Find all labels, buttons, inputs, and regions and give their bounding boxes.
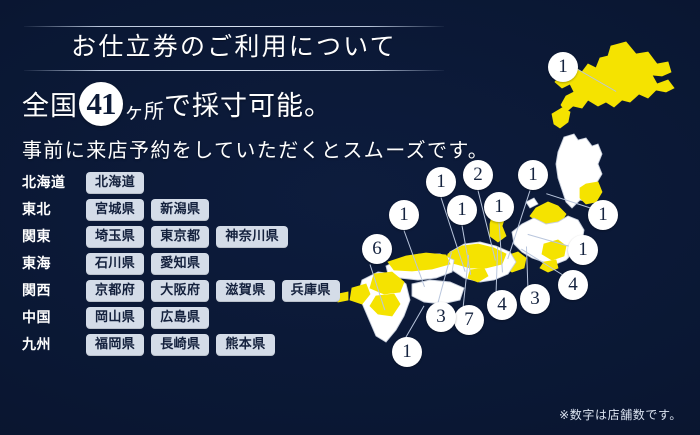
japan-map xyxy=(330,12,700,422)
region-name: 東北 xyxy=(22,199,86,221)
region-row: 北海道北海道 xyxy=(22,172,342,194)
prefecture-tag-group: 石川県愛知県 xyxy=(86,253,342,275)
prefecture-tag-group: 宮城県新潟県 xyxy=(86,199,342,221)
prefecture-tag[interactable]: 熊本県 xyxy=(216,334,274,356)
region-row: 中国岡山県広島県 xyxy=(22,307,342,329)
headline-suffix: で採寸可能。 xyxy=(164,93,332,120)
region-name: 関西 xyxy=(22,280,86,302)
map-marker-tokai-3[interactable]: 3 xyxy=(520,284,550,314)
prefecture-tag-group: 福岡県長崎県熊本県 xyxy=(86,334,342,356)
map-marker-shikoku-7[interactable]: 7 xyxy=(454,305,484,335)
prefecture-tag[interactable]: 岡山県 xyxy=(86,307,144,329)
headline-unit: ヶ所 xyxy=(124,95,164,124)
region-row: 関東埼玉県東京都神奈川県 xyxy=(22,226,342,248)
region-name: 東海 xyxy=(22,253,86,275)
prefecture-tag[interactable]: 滋賀県 xyxy=(216,280,274,302)
prefecture-tag-group: 京都府大阪府滋賀県兵庫県 xyxy=(86,280,342,302)
prefecture-tag[interactable]: 大阪府 xyxy=(151,280,209,302)
region-row: 東海石川県愛知県 xyxy=(22,253,342,275)
map-marker-kyushu-1[interactable]: 1 xyxy=(392,337,422,367)
map-marker-kanto-1[interactable]: 1 xyxy=(568,235,598,265)
prefecture-tag[interactable]: 東京都 xyxy=(151,226,209,248)
store-count-badge: 41 xyxy=(79,82,123,126)
map-marker-kyushu-6[interactable]: 6 xyxy=(362,234,392,264)
map-marker-kansai-b[interactable]: 1 xyxy=(447,195,477,225)
page-title: お仕立券のご利用について xyxy=(24,27,444,70)
prefecture-tag[interactable]: 愛知県 xyxy=(151,253,209,275)
title-rule-bottom xyxy=(24,70,444,71)
headline: 全国 41 ヶ所 で採寸可能。 xyxy=(22,84,332,128)
map-marker-chugoku-a[interactable]: 1 xyxy=(389,200,419,230)
prefecture-hokkaido-tip xyxy=(552,108,570,128)
prefecture-tag[interactable]: 神奈川県 xyxy=(216,226,288,248)
region-name: 九州 xyxy=(22,334,86,356)
prefecture-tag[interactable]: 石川県 xyxy=(86,253,144,275)
region-name: 中国 xyxy=(22,307,86,329)
region-name: 北海道 xyxy=(22,172,86,194)
map-marker-kansai-4[interactable]: 4 xyxy=(487,290,517,320)
region-row: 東北宮城県新潟県 xyxy=(22,199,342,221)
region-list: 北海道北海道東北宮城県新潟県関東埼玉県東京都神奈川県東海石川県愛知県関西京都府大… xyxy=(22,172,342,361)
prefecture-tag-group: 北海道 xyxy=(86,172,342,194)
island-sado xyxy=(526,198,538,208)
prefecture-tag[interactable]: 北海道 xyxy=(86,172,144,194)
promo-panel: 1112116111434731 お仕立券のご利用について 全国 41 ヶ所 で… xyxy=(0,0,700,435)
region-name: 関東 xyxy=(22,226,86,248)
prefecture-tag[interactable]: 新潟県 xyxy=(151,199,209,221)
map-marker-kanto-4[interactable]: 4 xyxy=(558,270,588,300)
map-marker-chugoku-3[interactable]: 3 xyxy=(426,302,456,332)
prefecture-tag[interactable]: 兵庫県 xyxy=(282,280,340,302)
map-marker-kansai-a[interactable]: 2 xyxy=(463,160,493,190)
headline-subline: 事前に来店予約をしていただくとスムーズです。 xyxy=(22,134,489,163)
map-marker-hokkaido[interactable]: 1 xyxy=(548,52,578,82)
header: お仕立券のご利用について xyxy=(24,26,444,71)
headline-prefix: 全国 xyxy=(22,93,78,120)
prefecture-tag-group: 岡山県広島県 xyxy=(86,307,342,329)
prefecture-tag[interactable]: 広島県 xyxy=(151,307,209,329)
region-row: 関西京都府大阪府滋賀県兵庫県 xyxy=(22,280,342,302)
prefecture-tag[interactable]: 宮城県 xyxy=(86,199,144,221)
footnote: ※数字は店舗数です。 xyxy=(559,406,682,423)
prefecture-tag[interactable]: 京都府 xyxy=(86,280,144,302)
prefecture-tag-group: 埼玉県東京都神奈川県 xyxy=(86,226,342,248)
prefecture-tag[interactable]: 福岡県 xyxy=(86,334,144,356)
map-marker-kansai-c[interactable]: 1 xyxy=(484,192,514,222)
map-marker-miyagi[interactable]: 1 xyxy=(588,200,618,230)
prefecture-tag[interactable]: 埼玉県 xyxy=(86,226,144,248)
map-marker-chugoku-b[interactable]: 1 xyxy=(426,167,456,197)
region-row: 九州福岡県長崎県熊本県 xyxy=(22,334,342,356)
map-marker-ishikawa[interactable]: 1 xyxy=(518,160,548,190)
prefecture-tag[interactable]: 長崎県 xyxy=(151,334,209,356)
